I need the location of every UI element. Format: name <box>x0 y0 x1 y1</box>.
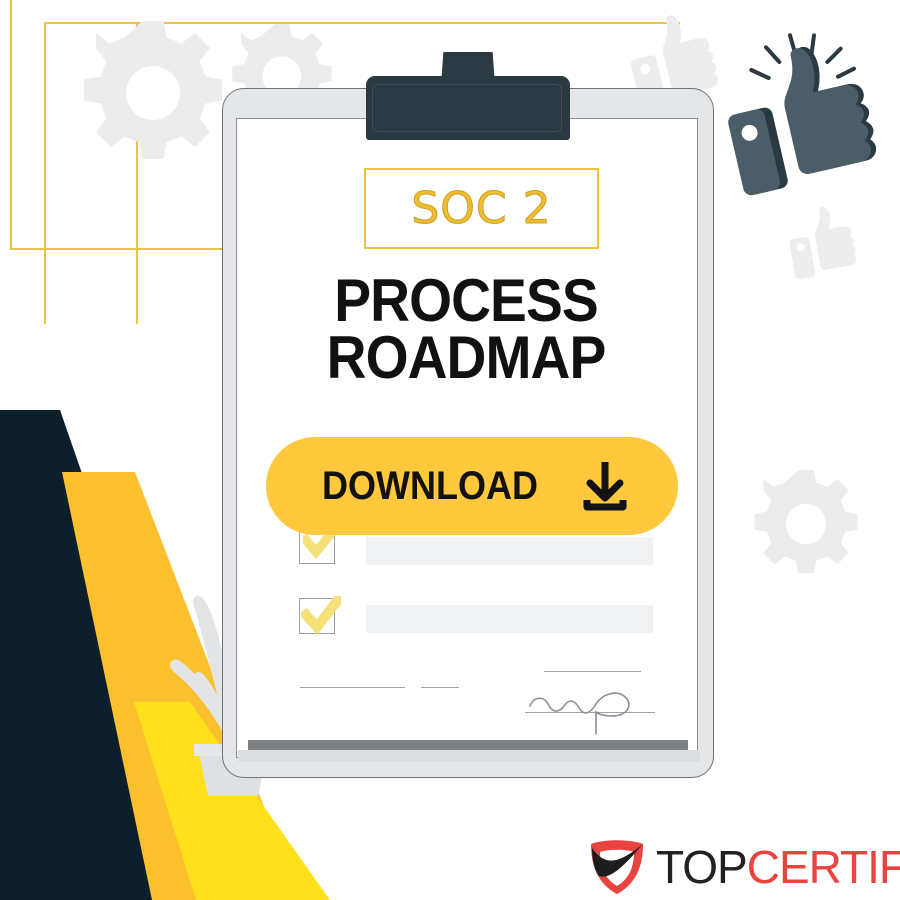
checklist-placeholder-1 <box>366 537 653 565</box>
line-frame-inner-top <box>120 22 680 24</box>
signature-scribble-icon <box>524 678 664 738</box>
signature-top-rule <box>544 671 641 672</box>
shield-check-icon <box>586 836 648 898</box>
download-button-label: DOWNLOAD <box>322 464 538 509</box>
line-frame-inner <box>44 22 138 324</box>
signature-blank-line-2 <box>421 687 459 688</box>
paper-bottom-shadow <box>248 740 688 750</box>
signature-blank-line-1 <box>300 687 405 688</box>
poster-canvas: SOC 2 PROCESS ROADMAP DOWNLOAD <box>0 0 900 900</box>
line-frame-outer <box>10 0 232 250</box>
page-title: PROCESS ROADMAP <box>258 272 674 386</box>
download-button[interactable]: DOWNLOAD <box>266 437 678 535</box>
thumbs-up-ghost-right-icon <box>784 204 862 286</box>
clipboard-bottom-ledge <box>238 750 700 762</box>
logo-word-certifier: CERTIFIER <box>747 844 900 890</box>
gear-large-top-left-icon <box>78 18 228 168</box>
checklist-placeholder-2 <box>366 605 653 633</box>
thumbs-up-main-icon <box>726 30 886 198</box>
gear-medium-bottom-right-icon <box>750 468 862 580</box>
logo-word-top: TOP <box>656 844 747 890</box>
clipboard-clip-highlight <box>372 84 562 132</box>
soc2-badge-label: SOC 2 <box>411 187 551 231</box>
brand-logo[interactable]: TOP CERTIFIER <box>586 836 900 898</box>
page-title-line-2: ROADMAP <box>258 329 674 386</box>
soc2-badge: SOC 2 <box>364 168 599 249</box>
download-icon <box>576 457 634 515</box>
check-icon-2 <box>301 596 341 636</box>
